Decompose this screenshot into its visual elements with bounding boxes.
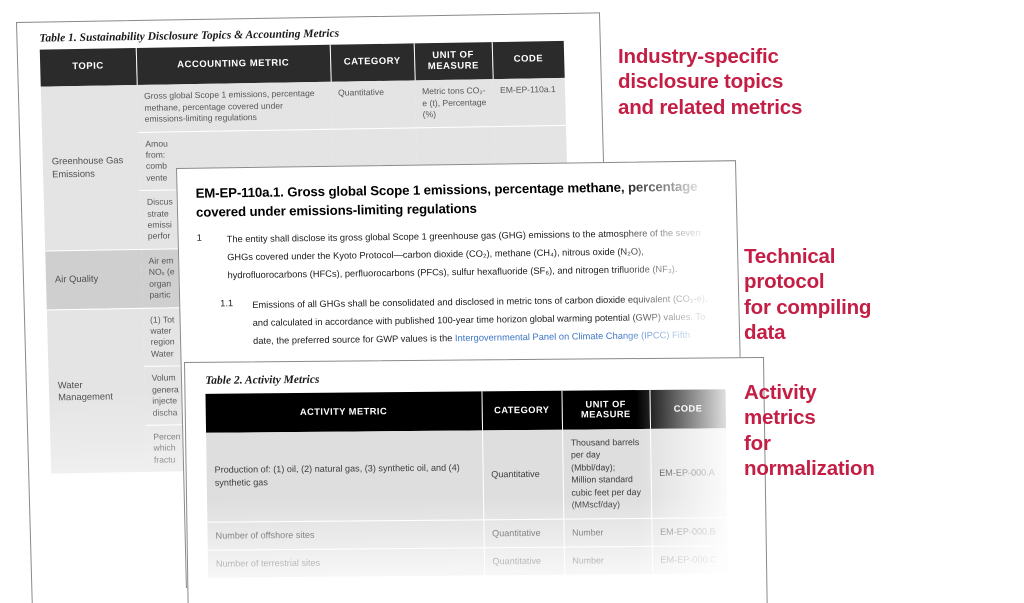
table1-cell-topic: Air Quality bbox=[45, 249, 143, 309]
table1-col-topic: TOPIC bbox=[40, 48, 137, 87]
table2-cell-code: EM-EP-000.A bbox=[650, 428, 727, 518]
protocol-item-1-body: The entity shall disclose its gross glob… bbox=[227, 228, 701, 280]
table1-cell-metric: Gross global Scope 1 emissions, percenta… bbox=[137, 82, 332, 132]
table2-cell-metric: Production of: (1) oil, (2) natural gas,… bbox=[206, 430, 483, 522]
annotation-activity-metrics: Activity metricsfor normalization bbox=[744, 380, 884, 482]
table1-col-metric: ACCOUNTING METRIC bbox=[136, 45, 331, 85]
protocol-item-text: The entity shall disclose its gross glob… bbox=[227, 225, 718, 285]
table2-header-row: ACTIVITY METRIC CATEGORY UNIT OFMEASURE … bbox=[205, 389, 726, 432]
table1-cell-topic: Greenhouse Gas Emissions bbox=[41, 85, 141, 251]
table2-col-metric: ACTIVITY METRIC bbox=[205, 391, 482, 432]
table2-cell-category: Quantitative bbox=[484, 547, 564, 576]
table1-col-unit: UNIT OFMEASURE bbox=[414, 42, 493, 81]
annotation-technical-protocol: Technical protocolfor compiling data bbox=[744, 244, 884, 346]
table1-cell-topic: Water Management bbox=[47, 308, 147, 474]
table2-cell-code: EM-EP-000.C bbox=[652, 546, 728, 575]
document-table2-sheet[interactable]: Table 2. Activity Metrics ACTIVITY METRI… bbox=[184, 357, 768, 603]
protocol-item-number: 1.1 bbox=[198, 297, 253, 351]
table-row[interactable]: Number of offshore sites Quantitative Nu… bbox=[207, 517, 727, 550]
table2-cell-metric: Number of terrestrial sites bbox=[208, 548, 484, 579]
table-row[interactable]: Production of: (1) oil, (2) natural gas,… bbox=[206, 428, 727, 522]
table2-col-category: CATEGORY bbox=[481, 391, 562, 431]
table2-cell-category: Quantitative bbox=[483, 519, 563, 548]
protocol-item-1-1: 1.1 Emissions of all GHGs shall be conso… bbox=[198, 290, 719, 351]
ipcc-link[interactable]: Intergovernmental Panel on Climate Chang… bbox=[455, 330, 690, 343]
table2: ACTIVITY METRIC CATEGORY UNIT OFMEASURE … bbox=[205, 389, 728, 579]
table2-cell-unit: Thousand barrels per day (Mbbl/day); Mil… bbox=[562, 429, 651, 519]
table1-cell-unit: Metric tons CO₂-e (t), Percentage (%) bbox=[415, 79, 494, 127]
table2-cell-category: Quantitative bbox=[482, 430, 563, 520]
protocol-item-1: 1 The entity shall disclose its gross gl… bbox=[197, 225, 718, 286]
table2-caption: Table 2. Activity Metrics bbox=[185, 358, 763, 394]
table2-col-code: CODE bbox=[649, 389, 726, 428]
table2-cell-unit: Number bbox=[564, 546, 652, 575]
protocol-title: EM-EP-110a.1. Gross global Scope 1 emiss… bbox=[195, 177, 716, 222]
table2-cell-unit: Number bbox=[563, 518, 651, 547]
table2-cell-metric: Number of offshore sites bbox=[207, 520, 483, 551]
table1-col-code: CODE bbox=[492, 41, 565, 79]
table-row[interactable]: Number of terrestrial sites Quantitative… bbox=[208, 546, 728, 579]
protocol-item-number: 1 bbox=[197, 232, 228, 286]
table2-col-unit: UNIT OFMEASURE bbox=[561, 390, 650, 430]
table1-cell-code: EM-EP-110a.1 bbox=[493, 78, 566, 126]
slide-canvas: Table 1. Sustainability Disclosure Topic… bbox=[0, 0, 1024, 603]
table1-cell-category: Quantitative bbox=[331, 81, 416, 129]
protocol-item-text: Emissions of all GHGs shall be consolida… bbox=[252, 290, 719, 350]
table1-col-category: CATEGORY bbox=[330, 43, 415, 82]
document-table2-content: Table 2. Activity Metrics ACTIVITY METRI… bbox=[185, 358, 767, 603]
table2-cell-code: EM-EP-000.B bbox=[651, 517, 727, 546]
annotation-industry-specific: Industry-specificdisclosure topicsand re… bbox=[618, 44, 802, 120]
